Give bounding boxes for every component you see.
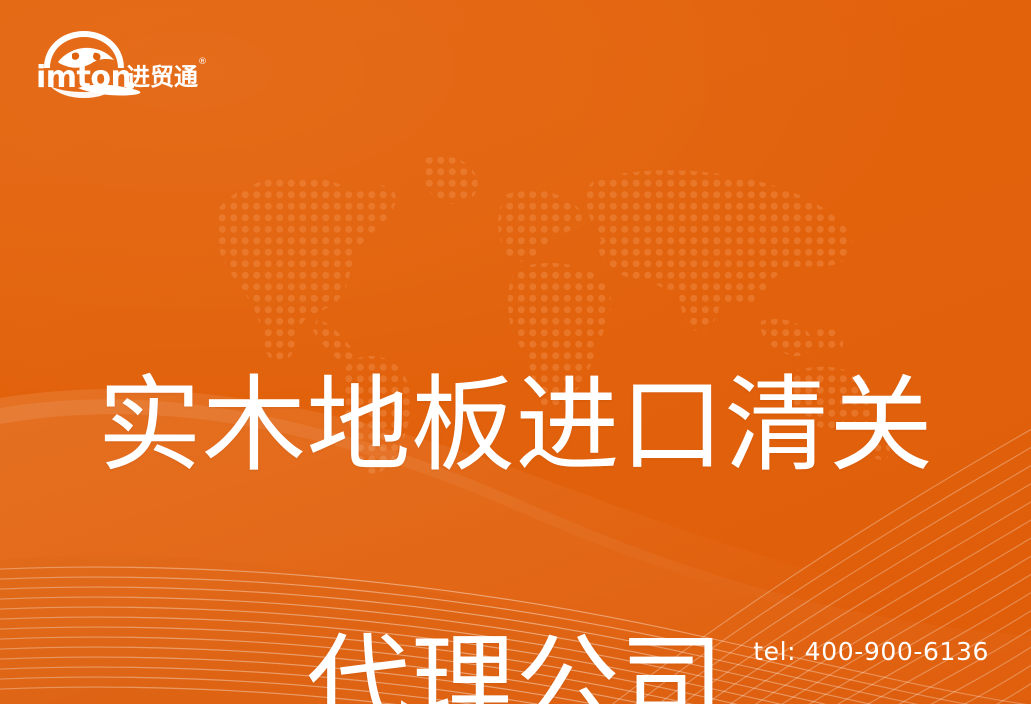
page-title: 实木地板进口清关 代理公司 [0,232,1031,704]
headline-line-1: 实木地板进口清关 [0,361,1031,490]
svg-text:进贸通: 进贸通 [126,63,198,91]
svg-text:imton: imton [36,60,131,95]
promo-banner: imton 进贸通 ® 实木地板进口清关 代理公司 tel: 400-900-6… [0,0,1031,704]
logo-wordmark-chinese: 进贸通 ® [126,57,207,91]
brand-logo[interactable]: imton 进贸通 ® [34,28,214,98]
contact-phone[interactable]: tel: 400-900-6136 [753,637,989,666]
logo-wordmark-latin: imton [36,60,131,95]
svg-text:®: ® [198,57,207,67]
